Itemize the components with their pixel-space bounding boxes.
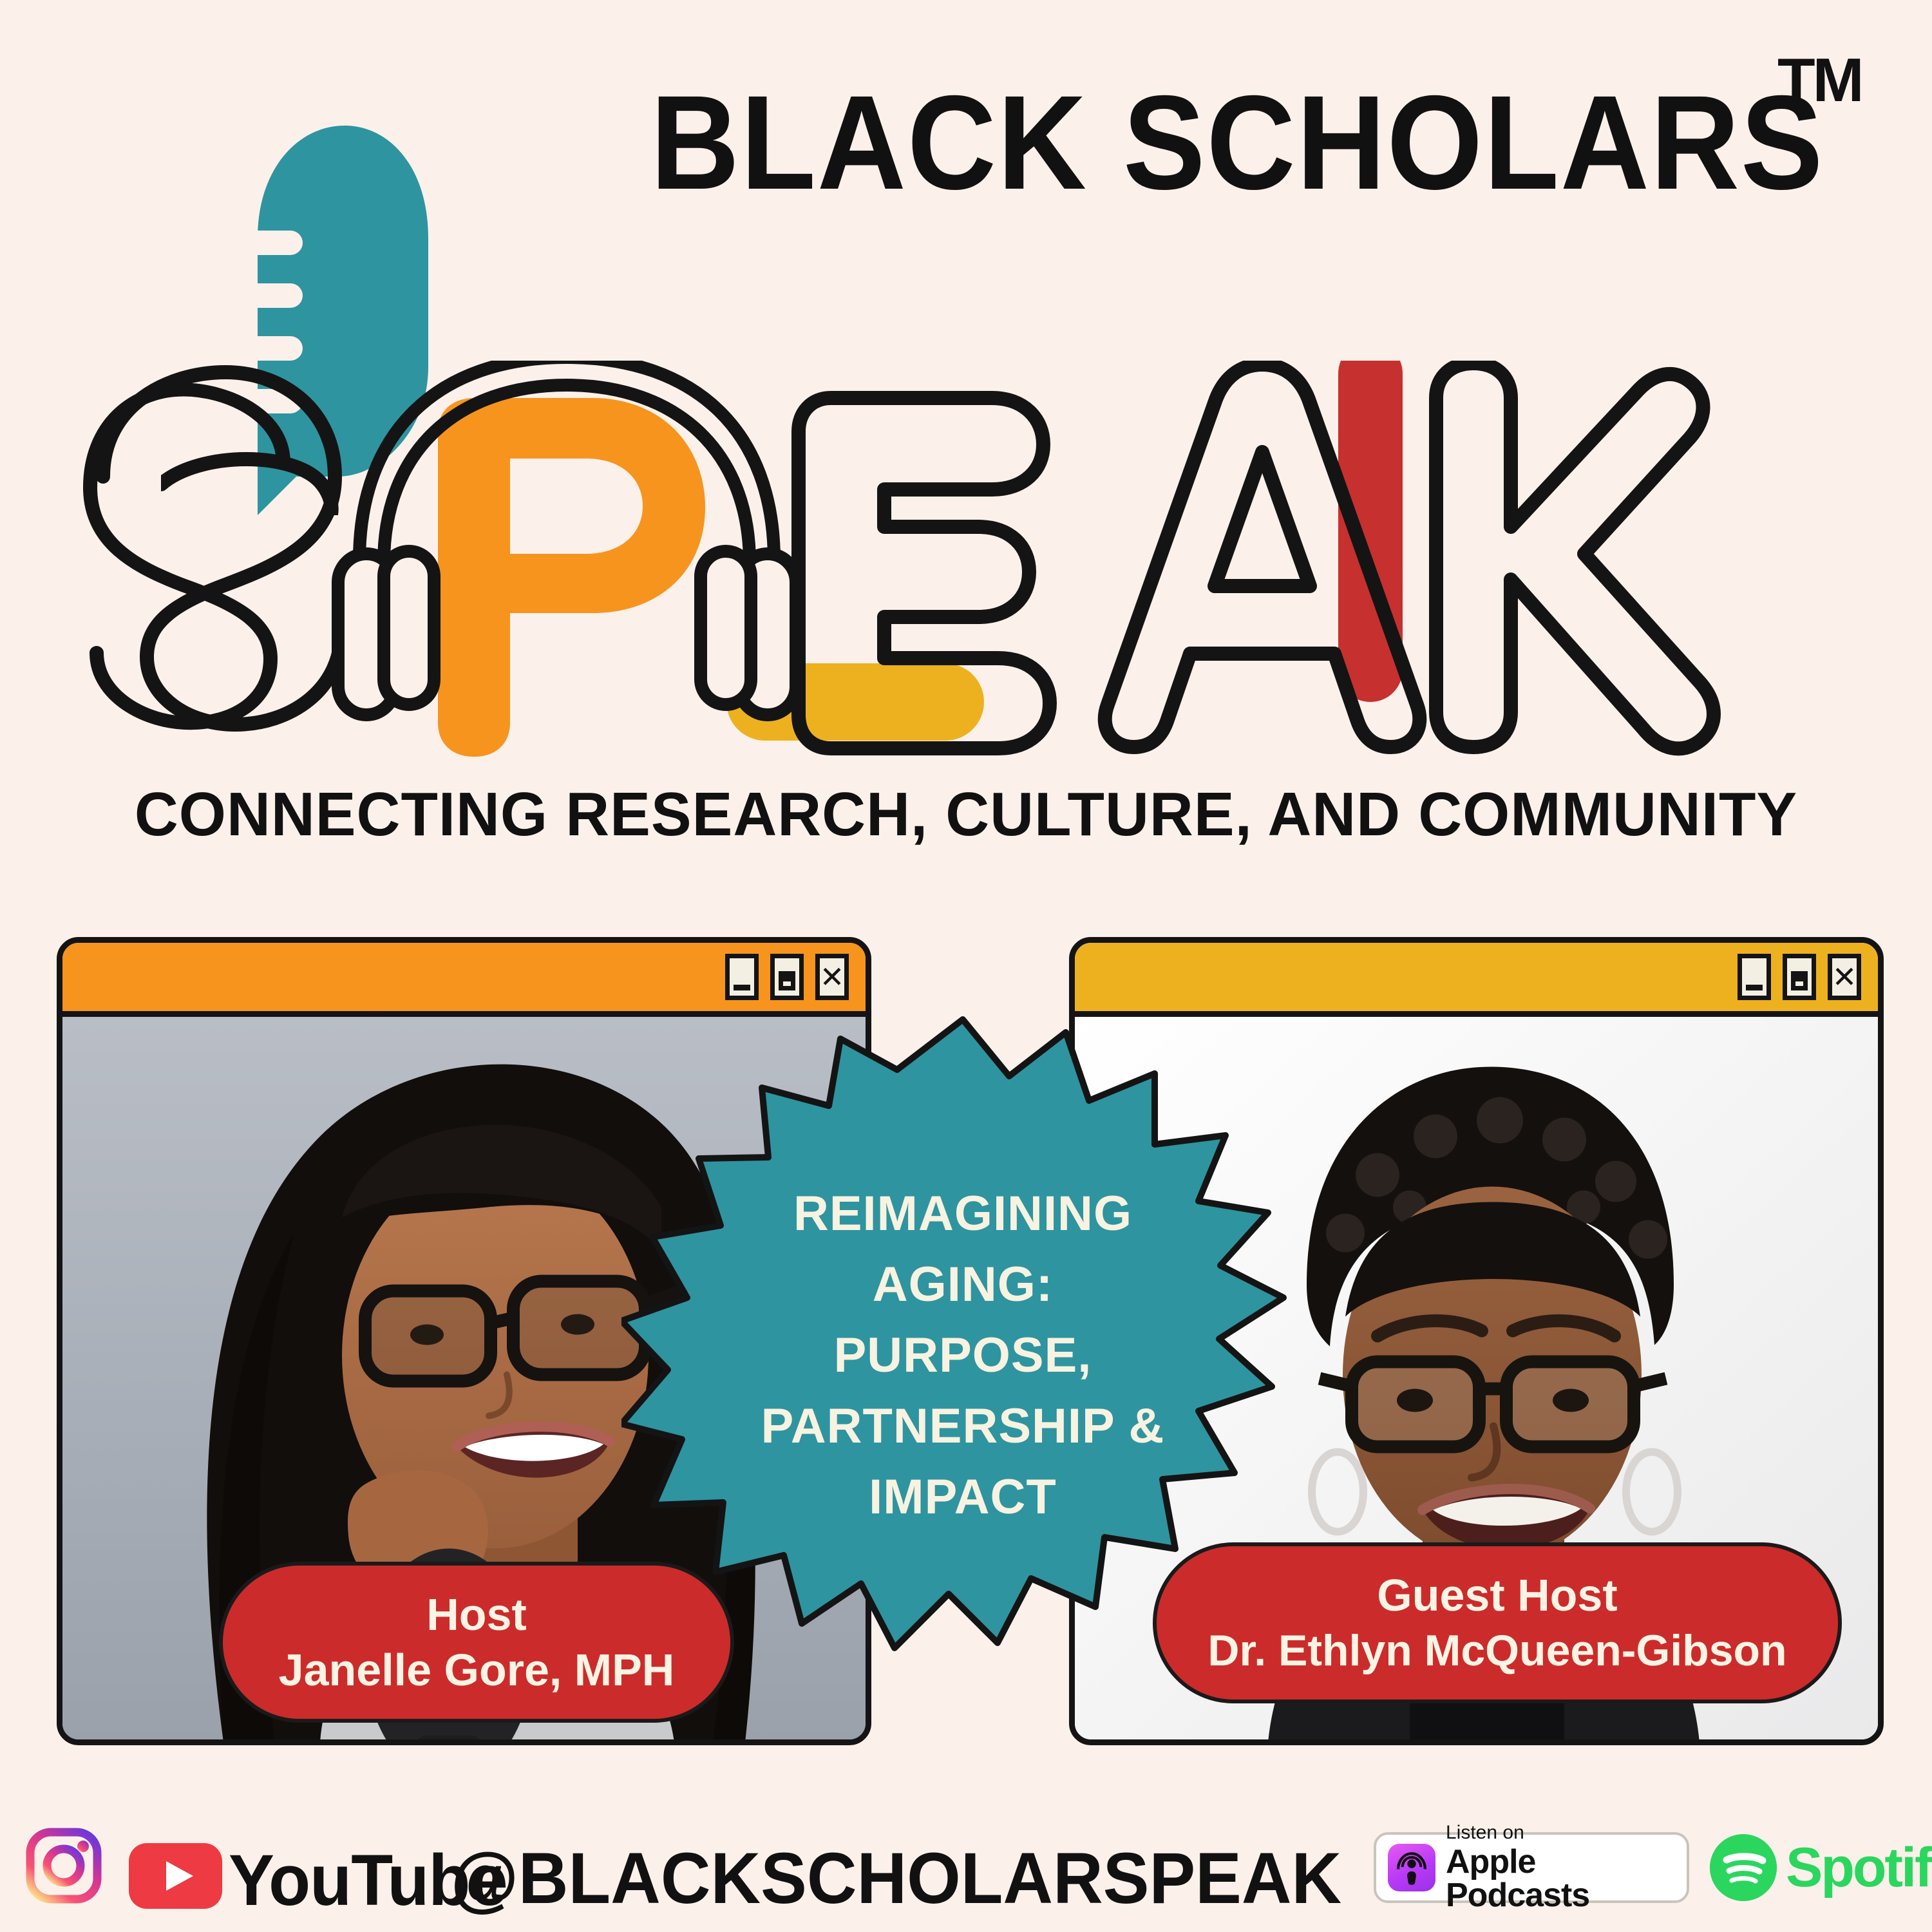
youtube-icon[interactable]	[129, 1843, 222, 1909]
close-button[interactable]: ✕	[815, 954, 849, 1000]
guest-host-role-label: Guest Host	[1377, 1567, 1617, 1623]
close-button[interactable]: ✕	[1828, 954, 1861, 1000]
minimize-button[interactable]	[725, 954, 759, 1000]
apple-podcasts-badge[interactable]: Listen on Apple Podcasts	[1374, 1832, 1689, 1903]
trademark-symbol: TM	[1777, 45, 1862, 116]
apple-podcasts-icon	[1388, 1844, 1435, 1891]
minimize-button[interactable]	[1738, 954, 1771, 1000]
spotify-label: Spotify®	[1786, 1836, 1932, 1900]
instagram-icon[interactable]	[26, 1828, 102, 1904]
apple-podcasts-line1: Listen on	[1446, 1823, 1687, 1842]
host-window-titlebar: ✕	[62, 943, 866, 1017]
host-name-label: Janelle Gore, MPH	[279, 1642, 675, 1698]
apple-podcasts-line2: Apple Podcasts	[1446, 1845, 1687, 1912]
podcast-cover-artwork: BLACK SCHOLARS TM	[0, 0, 1932, 1932]
brand-title: BLACK SCHOLARS	[650, 76, 1824, 210]
host-role-label: Host	[426, 1587, 527, 1642]
episode-title-starburst: REIMAGINING AGING: PURPOSE, PARTNERSHIP …	[621, 1014, 1304, 1697]
guest-host-window-titlebar: ✕	[1075, 943, 1878, 1017]
spotify-badge[interactable]: Spotify®	[1710, 1834, 1932, 1901]
maximize-button[interactable]	[770, 954, 804, 1000]
spotify-icon	[1710, 1834, 1777, 1901]
speak-wordmark	[77, 361, 1829, 773]
maximize-button[interactable]	[1783, 954, 1816, 1000]
tagline: CONNECTING RESEARCH, CULTURE, AND COMMUN…	[19, 779, 1913, 850]
social-handle: @BLACKSCHOLARSPEAK	[451, 1837, 1341, 1920]
